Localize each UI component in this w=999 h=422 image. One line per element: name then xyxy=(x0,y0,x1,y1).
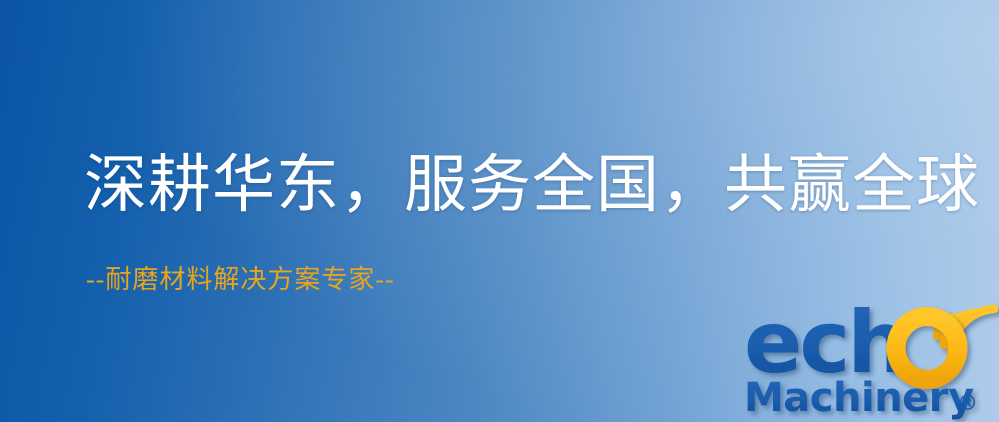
logo-registered-mark: ® xyxy=(957,391,978,415)
banner-subtitle: --耐磨材料解决方案专家-- xyxy=(86,266,395,295)
logo-o-ring-icon xyxy=(896,317,958,380)
hero-banner: 深耕华东，服务全国，共赢全球 --耐磨材料解决方案专家-- xyxy=(0,0,999,422)
company-logo[interactable]: ech Machinery ® xyxy=(744,292,999,422)
banner-headline: 深耕华东，服务全国，共赢全球 xyxy=(84,152,980,219)
logo-text-machinery: Machinery xyxy=(744,375,974,421)
